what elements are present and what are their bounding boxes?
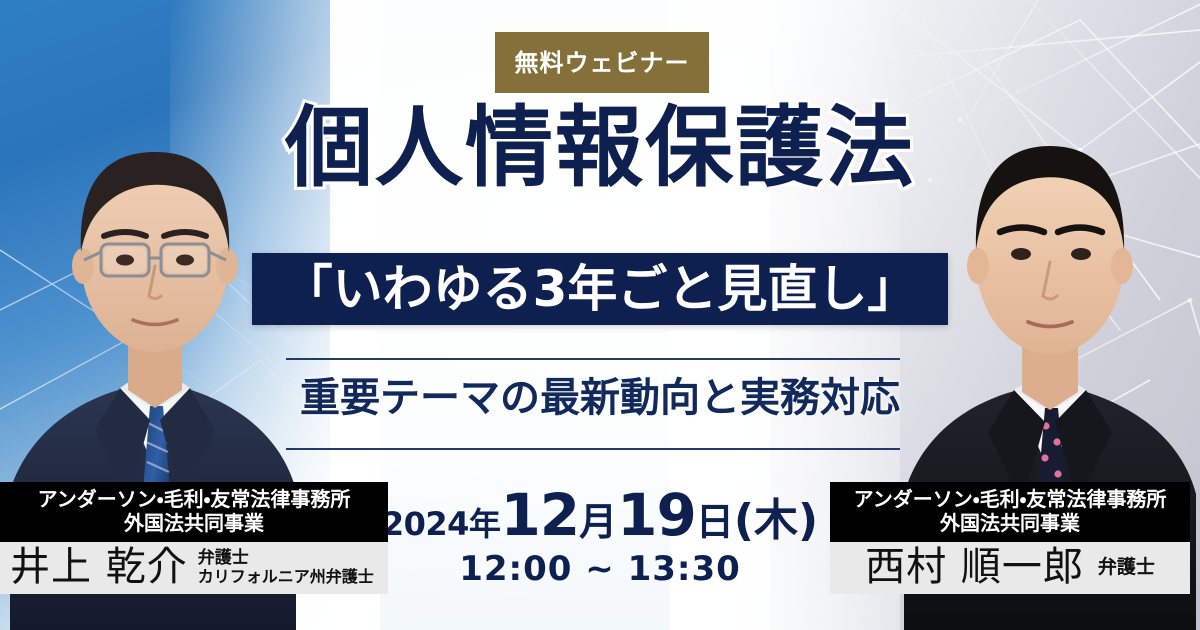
speaker-left-titles: 弁護士 カリフォルニア州弁護士 [198, 548, 374, 587]
speaker-plate-left: アンダーソン・毛利・友常法律事務所 外国法共同事業 井上 乾介 弁護士 カリフォ… [0, 482, 388, 594]
subtitle-text: 「いわゆる3年ごと見直し」 [283, 264, 918, 314]
speaker-right-firm-line1: アンダーソン・毛利・友常法律事務所 [836, 488, 1184, 511]
event-month: 12 [500, 486, 579, 544]
speaker-left-firm: アンダーソン・毛利・友常法律事務所 外国法共同事業 [0, 482, 388, 542]
speaker-right-firm: アンダーソン・毛利・友常法律事務所 外国法共同事業 [830, 482, 1190, 542]
speaker-right-title1: 弁護士 [1098, 556, 1155, 578]
speaker-right-firm-line2: 外国法共同事業 [836, 511, 1184, 535]
speaker-left-title2: カリフォルニア州弁護士 [198, 567, 374, 586]
event-month-unit: 月 [579, 503, 617, 541]
speaker-left-firm-line1: アンダーソン・毛利・友常法律事務所 [6, 488, 382, 511]
speaker-right-name-bar: 西村 順一郎 弁護士 [830, 542, 1190, 594]
speaker-left-firm-line2: 外国法共同事業 [6, 511, 382, 535]
speaker-left-name: 井上 乾介 [10, 547, 188, 587]
speaker-left-title1: 弁護士 [198, 548, 249, 568]
speaker-right-name: 西村 順一郎 [865, 547, 1084, 587]
event-year: 2024年 [382, 508, 501, 540]
speaker-right-titles: 弁護士 [1098, 556, 1155, 578]
free-webinar-badge-label: 無料ウェビナー [515, 51, 690, 75]
speaker-left-name-bar: 井上 乾介 弁護士 カリフォルニア州弁護士 [0, 542, 388, 594]
webinar-banner: 無料ウェビナー 個人情報保護法 「いわゆる3年ごと見直し」 重要テーマの最新動向… [0, 0, 1200, 630]
subtitle-band: 「いわゆる3年ごと見直し」 [252, 253, 948, 325]
speaker-plate-right: アンダーソン・毛利・友常法律事務所 外国法共同事業 西村 順一郎 弁護士 [830, 482, 1190, 594]
free-webinar-badge[interactable]: 無料ウェビナー [495, 32, 709, 93]
